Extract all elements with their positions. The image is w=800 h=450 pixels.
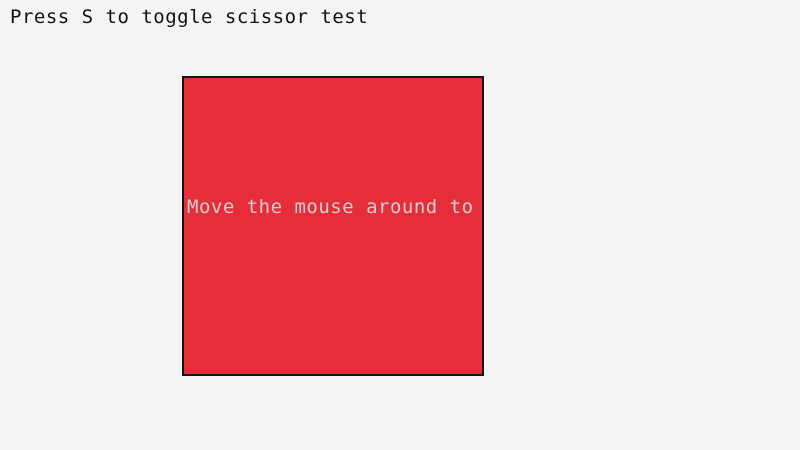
scissor-test-canvas[interactable]: Press S to toggle scissor test Move the … — [0, 0, 800, 450]
scissor-toggle-hint: Press S to toggle scissor test — [10, 6, 368, 28]
scissor-rectangle[interactable]: Move the mouse around to r — [182, 76, 484, 376]
scissor-clipped-text: Move the mouse around to r — [187, 196, 484, 218]
